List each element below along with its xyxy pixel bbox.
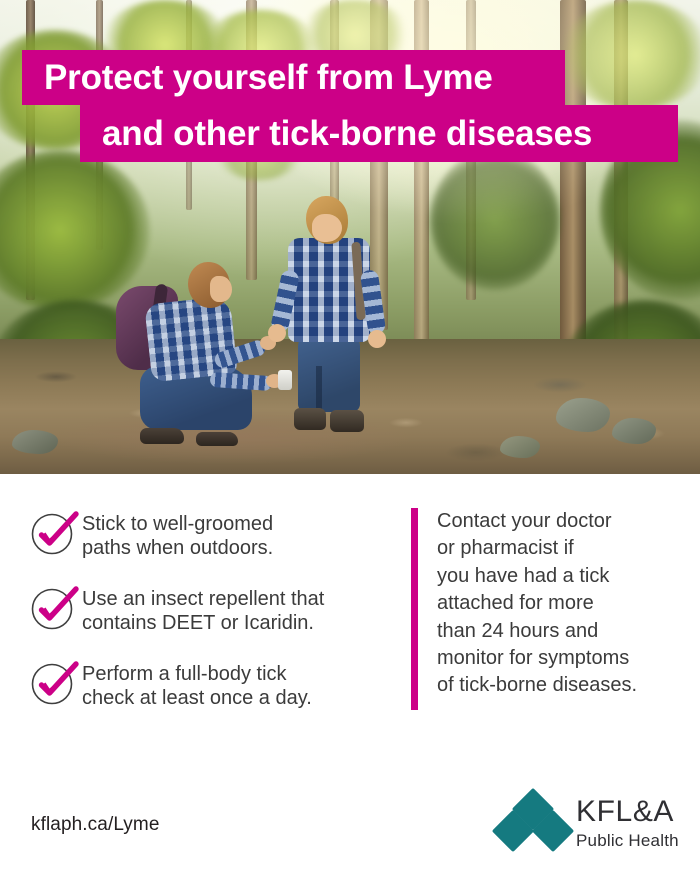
- list-item: Use an insect repellent that contains DE…: [30, 585, 390, 636]
- boy-boot: [330, 410, 364, 432]
- rock: [556, 398, 610, 432]
- check-circle-icon: [30, 660, 82, 706]
- logo-wordmark: KFL&A Public Health: [576, 797, 679, 849]
- doctor-advice-callout: Contact your doctor or pharmacist if you…: [411, 508, 637, 710]
- boy-face: [312, 214, 342, 242]
- woman-face: [210, 276, 232, 302]
- list-item-label: Use an insect repellent that contains DE…: [82, 585, 324, 636]
- headline-bar-line2: and other tick-borne diseases: [80, 105, 678, 162]
- boy-hand-right: [368, 330, 386, 348]
- headline-bar-line1: Protect yourself from Lyme: [22, 50, 565, 105]
- list-item: Perform a full-body tick check at least …: [30, 660, 390, 711]
- boy-pant-seam: [316, 366, 322, 414]
- headline-line2: and other tick-borne diseases: [102, 116, 592, 151]
- boy-boot: [294, 408, 326, 430]
- rock: [500, 436, 540, 458]
- rock: [612, 418, 656, 444]
- woman-boot: [140, 428, 184, 444]
- list-item: Stick to well-groomed paths when outdoor…: [30, 510, 390, 561]
- logo-subtitle: Public Health: [576, 832, 679, 849]
- callout-text: Contact your doctor or pharmacist if you…: [437, 508, 637, 710]
- foliage: [430, 150, 560, 290]
- boy-pants: [298, 336, 360, 412]
- woman-plaid-shirt: [144, 296, 238, 383]
- prevention-tips-list: Stick to well-groomed paths when outdoor…: [30, 510, 390, 734]
- boy-figure: [272, 196, 392, 440]
- content-panel: Stick to well-groomed paths when outdoor…: [0, 474, 700, 870]
- list-item-label: Stick to well-groomed paths when outdoor…: [82, 510, 273, 561]
- woman-boot: [196, 432, 238, 446]
- logo-name: KFL&A: [576, 797, 679, 827]
- check-circle-icon: [30, 510, 82, 556]
- foliage: [560, 0, 700, 110]
- headline-line1: Protect yourself from Lyme: [44, 60, 493, 95]
- woman-figure: [118, 262, 258, 442]
- list-item-label: Perform a full-body tick check at least …: [82, 660, 312, 711]
- website-url[interactable]: kflaph.ca/Lyme: [31, 814, 159, 836]
- check-circle-icon: [30, 585, 82, 631]
- rock: [12, 430, 58, 454]
- diamond-mark-icon: [496, 796, 570, 850]
- kfla-public-health-logo: KFL&A Public Health: [496, 796, 679, 850]
- callout-accent-bar: [411, 508, 418, 710]
